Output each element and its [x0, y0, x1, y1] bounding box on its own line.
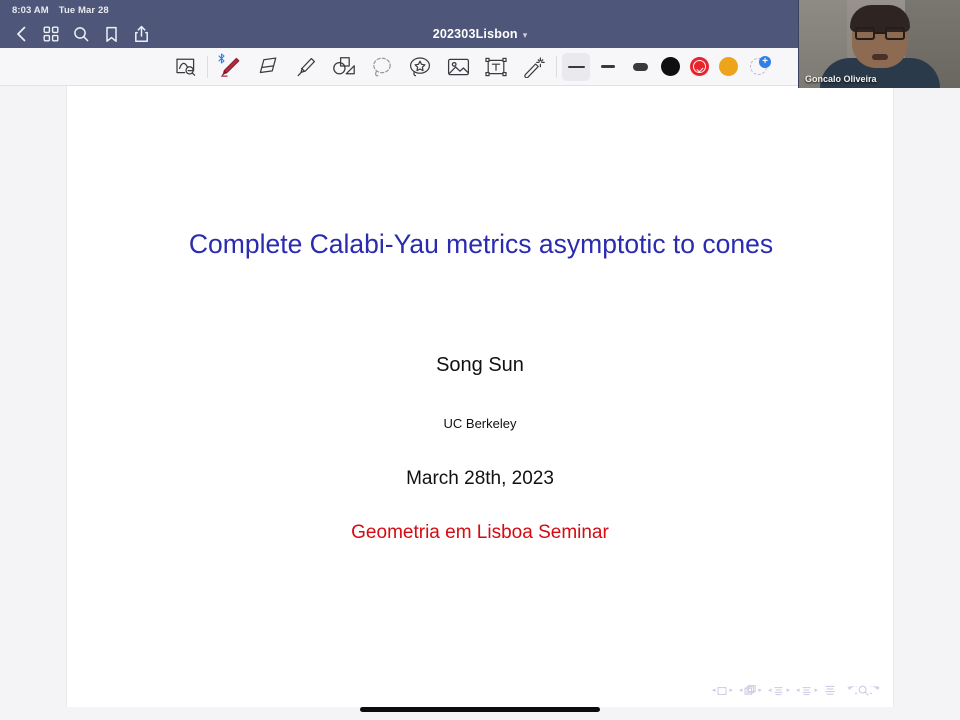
beamer-slide-prev[interactable]: ◂: [712, 687, 716, 694]
image-icon[interactable]: [439, 50, 477, 84]
beamer-frame-next[interactable]: ▸: [758, 687, 762, 694]
slide-venue: Geometria em Lisboa Seminar: [67, 522, 893, 544]
participant-name-label: Goncalo Oliveira: [805, 74, 877, 84]
add-color-icon[interactable]: +: [749, 56, 771, 78]
section-nav-icon[interactable]: [801, 686, 812, 696]
slide-content: Complete Calabi-Yau metrics asymptotic t…: [67, 86, 893, 707]
annotation-toolbar-inner: +: [166, 48, 771, 86]
bluetooth-icon: [218, 53, 225, 64]
pen-icon[interactable]: [211, 50, 249, 84]
search-icon[interactable]: [66, 21, 96, 47]
participant-video-tile[interactable]: Goncalo Oliveira: [798, 0, 960, 88]
chevron-down-icon[interactable]: ▾: [523, 31, 528, 40]
stroke-width-thin[interactable]: [562, 53, 590, 81]
subsection-nav-icon[interactable]: [773, 686, 784, 696]
color-swatch-orange[interactable]: [719, 57, 738, 76]
slide-title: Complete Calabi-Yau metrics asymptotic t…: [145, 224, 817, 265]
document-title: 202303Lisbon: [433, 27, 518, 41]
color-swatch-red[interactable]: [690, 57, 709, 76]
text-box-icon[interactable]: [477, 50, 515, 84]
bookmark-icon[interactable]: [96, 21, 126, 47]
presentation-icon[interactable]: [824, 685, 836, 696]
beamer-section-nav[interactable]: ◂ ▸: [796, 686, 818, 696]
participant-glasses: [855, 27, 905, 40]
beamer-navigation[interactable]: ◂ ▸ ◂ ▸ ◂: [712, 685, 881, 696]
eraser-icon[interactable]: [249, 50, 287, 84]
stroke-width-thick[interactable]: [626, 53, 654, 81]
home-indicator[interactable]: [360, 707, 600, 712]
color-swatch-black[interactable]: [661, 57, 680, 76]
beamer-section-next[interactable]: ▸: [814, 687, 818, 694]
add-color-plus: +: [759, 56, 771, 68]
lasso-select-icon[interactable]: [166, 50, 204, 84]
beamer-frame-prev[interactable]: ◂: [739, 687, 743, 694]
undo-icon[interactable]: [846, 686, 857, 696]
slide-date: March 28th, 2023: [67, 468, 893, 490]
sticker-icon[interactable]: [401, 50, 439, 84]
beamer-slide-next[interactable]: ▸: [729, 687, 733, 694]
grid-thumbnails-icon[interactable]: [36, 21, 66, 47]
highlighter-icon[interactable]: [287, 50, 325, 84]
document-title-button[interactable]: 202303Lisbon ▾: [433, 27, 528, 41]
beamer-section-prev[interactable]: ◂: [796, 687, 800, 694]
toolbar-divider-2: [556, 56, 557, 78]
slide-author: Song Sun: [67, 354, 893, 377]
stroke-width-medium[interactable]: [594, 53, 622, 81]
beamer-frame-nav[interactable]: ◂ ▸: [739, 685, 762, 696]
frame-nav-icon[interactable]: [744, 685, 756, 696]
redo-icon[interactable]: [870, 686, 881, 696]
chevron-left-icon[interactable]: [6, 21, 36, 47]
pdf-page[interactable]: Complete Calabi-Yau metrics asymptotic t…: [66, 86, 894, 707]
status-bar-time: 8:03 AM: [12, 5, 49, 16]
share-icon[interactable]: [126, 21, 156, 47]
participant-mouth: [872, 54, 888, 60]
magic-wand-icon[interactable]: [515, 50, 553, 84]
toolbar-divider-1: [207, 56, 208, 78]
document-viewer[interactable]: Complete Calabi-Yau metrics asymptotic t…: [0, 86, 960, 720]
beamer-subsection-next[interactable]: ▸: [786, 687, 790, 694]
shapes-icon[interactable]: [325, 50, 363, 84]
status-bar-date: Tue Mar 28: [59, 5, 109, 16]
beamer-slide-nav[interactable]: ◂ ▸: [712, 686, 733, 696]
search-small-icon[interactable]: [858, 685, 869, 696]
slide-affiliation: UC Berkeley: [67, 416, 893, 431]
beamer-subsection-prev[interactable]: ◂: [768, 687, 772, 694]
lasso-loop-icon[interactable]: [363, 50, 401, 84]
slide-nav-icon[interactable]: [717, 686, 727, 696]
beamer-subsection-nav[interactable]: ◂ ▸: [768, 686, 790, 696]
navigation-bar-left-group: [0, 21, 156, 47]
